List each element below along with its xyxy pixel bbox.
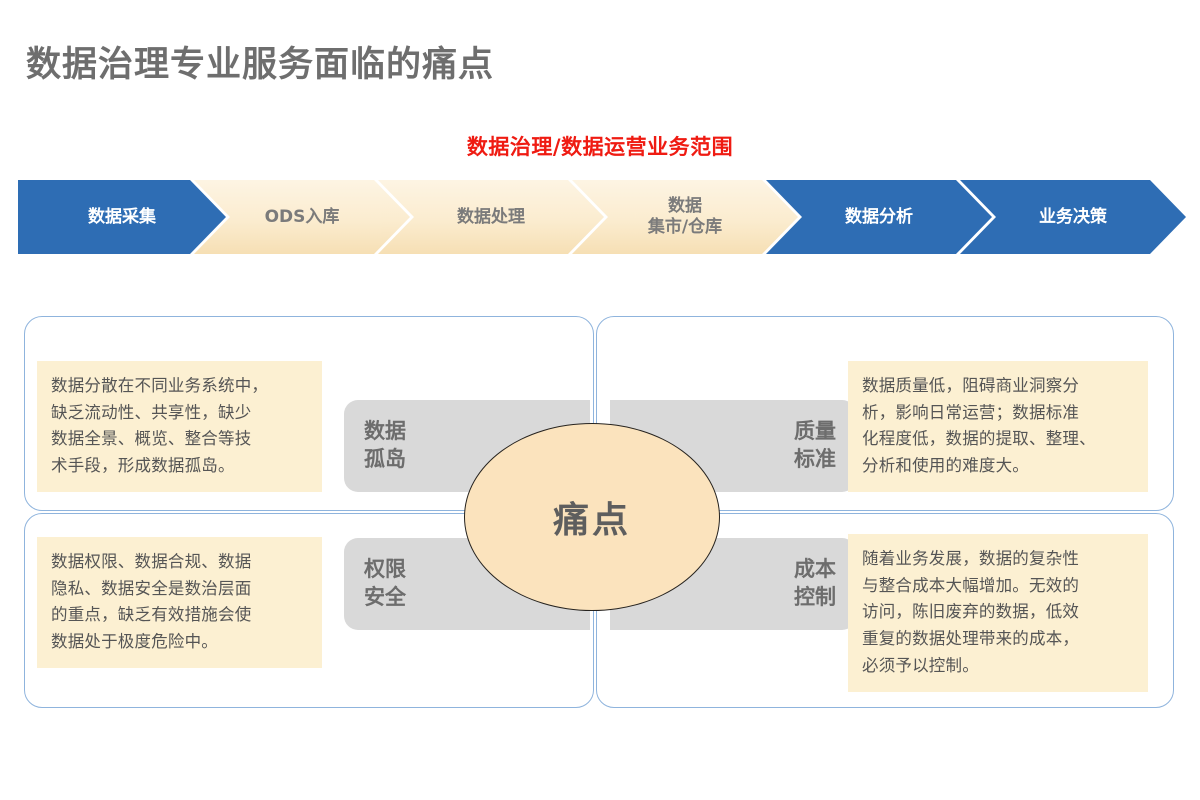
center-hub-ellipse: 痛点 — [464, 423, 720, 611]
pill-label-text: 权限 安全 — [364, 556, 406, 611]
pain-point-description-quality-standard: 数据质量低，阻碍商业洞察分 析，影响日常运营；数据标准 化程度低，数据的提取、整… — [848, 361, 1148, 492]
process-step-5[interactable]: 数据分析 — [766, 180, 992, 254]
process-step-5-label: 数据分析 — [766, 207, 992, 228]
center-hub-label: 痛点 — [553, 491, 631, 543]
page-title: 数据治理专业服务面临的痛点 — [26, 36, 494, 87]
process-step-3-label: 数据处理 — [378, 207, 604, 228]
process-step-3[interactable]: 数据处理 — [378, 180, 604, 254]
process-step-2-label: ODS入库 — [194, 207, 410, 228]
process-scope-subtitle: 数据治理/数据运营业务范围 — [0, 131, 1200, 161]
pain-point-description-data-silo: 数据分散在不同业务系统中， 缺乏流动性、共享性，缺少 数据全景、概览、整合等技 … — [37, 361, 322, 492]
pill-label-text: 成本 控制 — [794, 556, 836, 611]
pain-point-description-cost-control: 随着业务发展，数据的复杂性 与整合成本大幅增加。无效的 访问，陈旧废弃的数据，低… — [848, 534, 1148, 692]
pill-label-text: 质量 标准 — [794, 418, 836, 473]
pill-label-text: 数据 孤岛 — [364, 418, 406, 473]
process-step-4-label: 数据 集市/仓库 — [572, 196, 798, 237]
process-step-1[interactable]: 数据采集 — [18, 180, 226, 254]
process-step-6-label: 业务决策 — [960, 207, 1186, 228]
process-step-2[interactable]: ODS入库 — [194, 180, 410, 254]
process-step-6[interactable]: 业务决策 — [960, 180, 1186, 254]
process-step-1-label: 数据采集 — [18, 207, 226, 228]
process-flow-bar: 数据采集 ODS入库 数据处理 数据 集市/仓库 数据分析 业务决策 — [18, 180, 1186, 254]
pain-point-description-permission-security: 数据权限、数据合规、数据 隐私、数据安全是数治层面 的重点，缺乏有效措施会使 数… — [37, 537, 322, 668]
process-step-4[interactable]: 数据 集市/仓库 — [572, 180, 798, 254]
